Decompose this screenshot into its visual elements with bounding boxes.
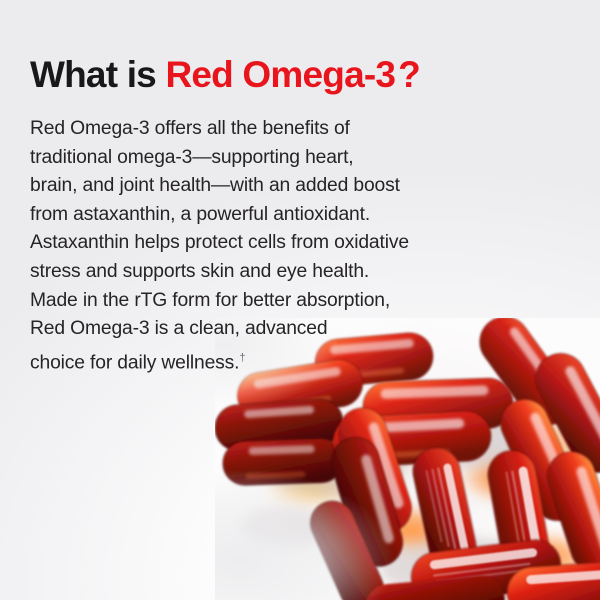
page-title: What is Red Omega-3?: [30, 52, 500, 98]
headline-accent: Red Omega-3: [165, 54, 395, 95]
body-line-3: brain, and joint health—with an added bo…: [30, 172, 500, 201]
body-line-1: Red Omega-3 offers all the benefits of: [30, 115, 500, 144]
copy-block: What is Red Omega-3? Red Omega-3 offers …: [30, 52, 500, 378]
body-paragraph: Red Omega-3 offers all the benefits of t…: [30, 115, 500, 378]
body-line-9-text: choice for daily wellness.: [30, 352, 239, 373]
product-infographic: What is Red Omega-3? Red Omega-3 offers …: [0, 0, 600, 600]
body-line-4: from astaxanthin, a powerful antioxidant…: [30, 201, 500, 230]
footnote-dagger: †: [239, 352, 245, 364]
body-line-8: Red Omega-3 is a clean, advanced: [30, 315, 500, 344]
headline-lead: What is: [30, 54, 165, 95]
body-line-2: traditional omega-3—supporting heart,: [30, 144, 500, 173]
body-line-9: choice for daily wellness.†: [30, 344, 500, 378]
body-line-6: stress and supports skin and eye health.: [30, 258, 500, 287]
body-line-5: Astaxanthin helps protect cells from oxi…: [30, 229, 500, 258]
body-line-7: Made in the rTG form for better absorpti…: [30, 287, 500, 316]
headline-question-mark: ?: [398, 54, 420, 95]
